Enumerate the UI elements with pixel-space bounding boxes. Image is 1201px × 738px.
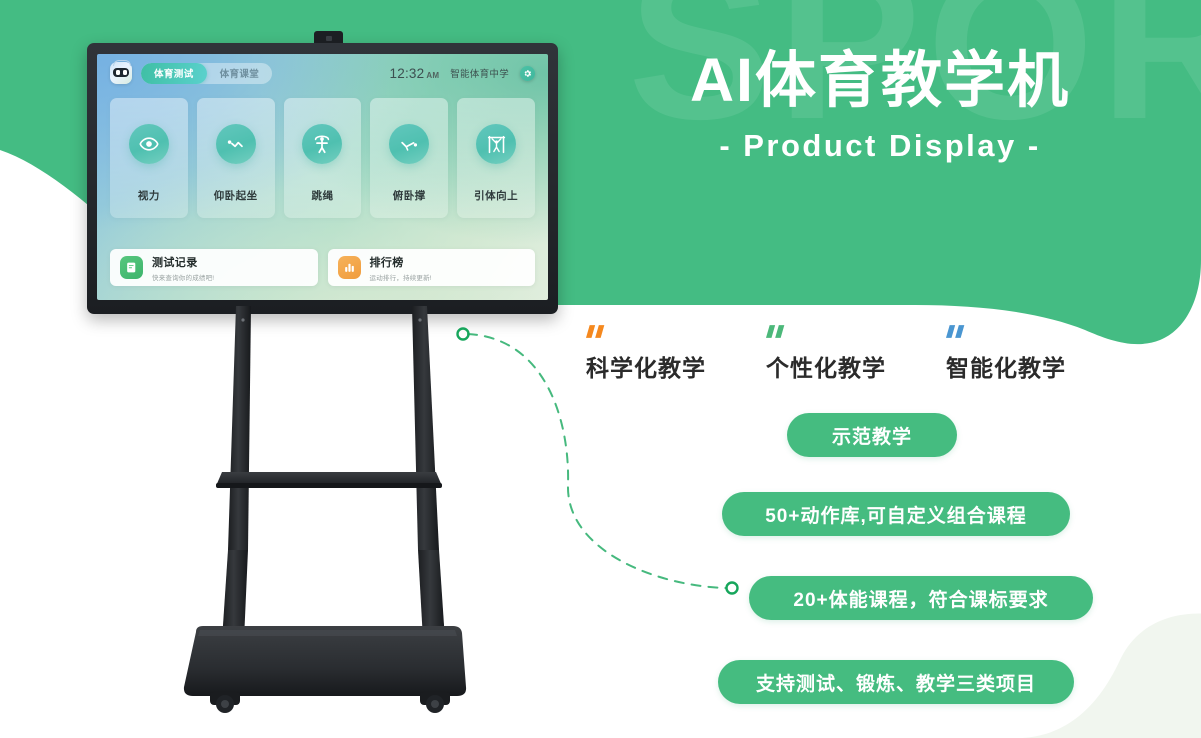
card-test-records[interactable]: 测试记录 快来查询你的成绩吧! (110, 249, 318, 286)
shortcut-title: 排行榜 (370, 254, 432, 270)
school-name: 智能体育中学 (450, 66, 509, 80)
feature-scientific: 科学化教学 (586, 325, 706, 383)
feature-pill-three-types[interactable]: 支持测试、锻炼、教学三类项目 (718, 660, 1074, 704)
feature-intelligent: 智能化教学 (946, 325, 1066, 383)
card-label: 视力 (138, 188, 160, 203)
robot-mascot-icon (110, 62, 132, 84)
stand-base (184, 626, 466, 696)
card-label: 俯卧撑 (393, 188, 426, 203)
gear-glyph (523, 69, 532, 78)
situp-glyph (225, 133, 247, 155)
feature-personalized: 个性化教学 (766, 325, 886, 383)
clock-period: AM (426, 71, 439, 80)
card-label: 引体向上 (474, 188, 518, 203)
quote-mark-icon (946, 325, 968, 338)
jumprope-glyph (311, 133, 333, 155)
document-icon (120, 256, 143, 279)
pushup-icon (389, 124, 429, 164)
card-label: 仰卧起坐 (214, 188, 258, 203)
robot-face (113, 68, 129, 77)
stand-post-right (412, 306, 439, 550)
stand-base-highlight (198, 630, 457, 636)
card-situp[interactable]: 仰卧起坐 (197, 98, 275, 218)
stand-caster-right (420, 692, 450, 713)
topbar-right-group: 12:32AM 智能体育中学 (390, 66, 535, 81)
quote-mark-icon (766, 325, 788, 338)
stand-screw (241, 318, 244, 321)
stand-shelf-edge (216, 483, 442, 488)
page-subtitle: - Product Display - (640, 128, 1120, 164)
pushup-glyph (398, 133, 420, 155)
card-label: 跳绳 (311, 188, 333, 203)
card-pushup[interactable]: 俯卧撑 (370, 98, 448, 218)
quote-mark-icon (586, 325, 608, 338)
feature-title: 科学化教学 (586, 349, 706, 383)
card-jumprope[interactable]: 跳绳 (284, 98, 362, 218)
shortcut-text: 测试记录 快来查询你的成绩吧! (152, 254, 214, 282)
screen-topbar: 体育测试 体育课堂 12:32AM 智能体育中学 (97, 54, 548, 92)
stand-caster-left (210, 692, 240, 713)
situp-icon (216, 124, 256, 164)
mode-tab-group[interactable]: 体育测试 体育课堂 (141, 63, 272, 84)
eye-glyph (139, 134, 159, 154)
gear-icon[interactable] (520, 66, 535, 81)
card-vision[interactable]: 视力 (110, 98, 188, 218)
tab-sports-class[interactable]: 体育课堂 (207, 63, 273, 84)
tv-device: 体育测试 体育课堂 12:32AM 智能体育中学 (87, 43, 558, 314)
pullup-icon (476, 124, 516, 164)
pullup-glyph (486, 134, 507, 155)
feature-title: 个性化教学 (766, 349, 886, 383)
feature-pill-action-library[interactable]: 50+动作库,可自定义组合课程 (722, 492, 1070, 536)
jumprope-icon (302, 124, 342, 164)
bar-chart-icon (338, 256, 361, 279)
clock: 12:32AM (390, 66, 440, 81)
shortcut-text: 排行榜 运动排行，持续更新! (370, 254, 432, 282)
shortcut-desc: 快来查询你的成绩吧! (152, 272, 214, 282)
hero-text-block: AI体育教学机 - Product Display - (640, 48, 1120, 164)
stand-screw (418, 318, 421, 321)
feature-pill-fitness-course[interactable]: 20+体能课程，符合课标要求 (749, 576, 1093, 620)
bar-chart-glyph (343, 261, 356, 274)
document-glyph (125, 261, 138, 274)
shortcut-row: 测试记录 快来查询你的成绩吧! 排行榜 运动排行，持续更新! (110, 249, 535, 286)
tv-screen: 体育测试 体育课堂 12:32AM 智能体育中学 (97, 54, 548, 300)
shortcut-title: 测试记录 (152, 254, 214, 270)
eye-icon (129, 124, 169, 164)
test-items-row: 视力 仰卧起坐 (110, 98, 535, 218)
poster-canvas: SPORTS AI体育教学机 - Product Display - 体育测试 (0, 0, 1201, 738)
tab-sports-test[interactable]: 体育测试 (141, 63, 207, 84)
feature-pill-demo-teaching[interactable]: 示范教学 (787, 413, 957, 457)
feature-title: 智能化教学 (946, 349, 1066, 383)
feature-headings: 科学化教学 个性化教学 智能化教学 (586, 325, 1126, 383)
stand-post-left (228, 306, 251, 550)
shortcut-desc: 运动排行，持续更新! (370, 272, 432, 282)
page-title: AI体育教学机 (640, 48, 1120, 112)
connector-node-start (458, 329, 469, 340)
connector-node-end (727, 583, 738, 594)
card-leaderboard[interactable]: 排行榜 运动排行，持续更新! (328, 249, 536, 286)
card-pullup[interactable]: 引体向上 (457, 98, 535, 218)
